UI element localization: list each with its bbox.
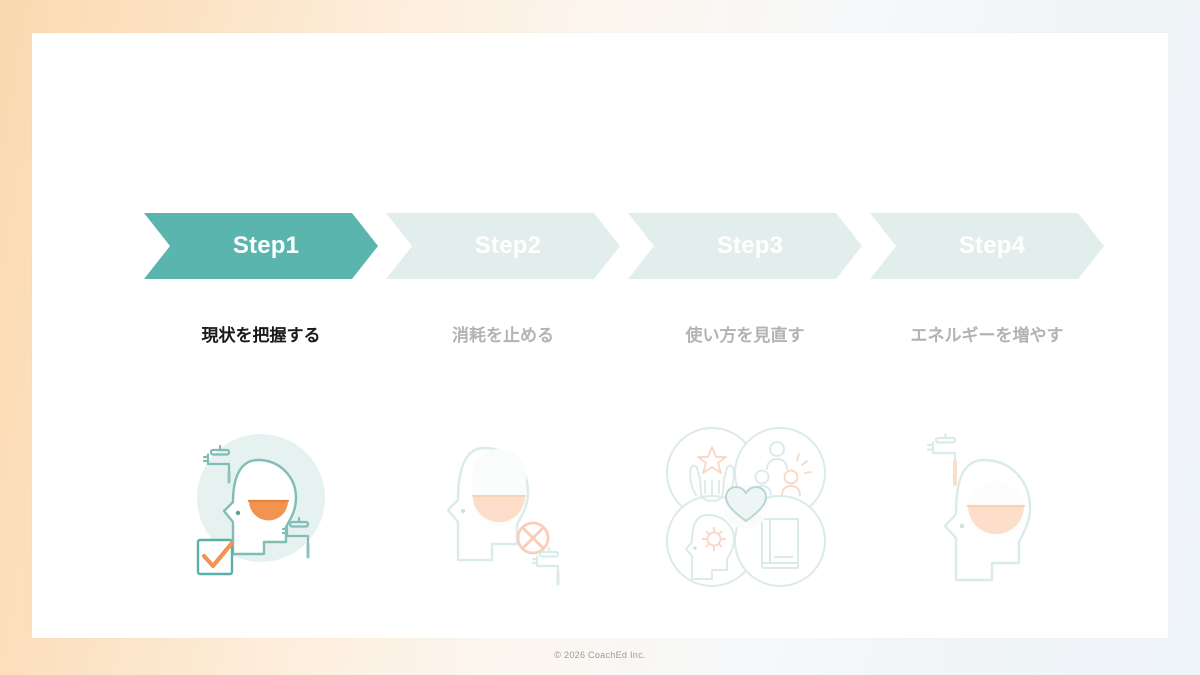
step-illustration-step4 (870, 411, 1104, 601)
step-arrow-step2[interactable]: Step2 (386, 213, 620, 279)
step-caption-step4: エネルギーを増やす (870, 325, 1104, 347)
head-with-blocked-faucet-icon (428, 426, 578, 586)
step-caption-step1: 現状を把握する (144, 325, 378, 347)
step-arrow-label-step4: Step4 (949, 234, 1025, 258)
step-illustration-step1 (144, 411, 378, 601)
step-arrow-step1[interactable]: Step1 (144, 213, 378, 279)
step-caption-step2: 消耗を止める (386, 325, 620, 347)
step-arrow-step4[interactable]: Step4 (870, 213, 1104, 279)
footer-copyright: © 2026 CoachEd Inc. (0, 650, 1200, 660)
head-with-faucets-and-checkbox-icon (186, 426, 336, 586)
slide-canvas: Step1 Step2 Step3 Step4 現状を把握する 消耗を止める 使… (0, 0, 1200, 675)
four-circles-values-heart-icon (660, 421, 830, 591)
step-illustration-row (144, 411, 1104, 601)
step-caption-row: 現状を把握する 消耗を止める 使い方を見直す エネルギーを増やす (144, 325, 1104, 347)
step-arrow-label-step1: Step1 (223, 234, 299, 258)
step-arrow-label-step2: Step2 (465, 234, 541, 258)
step-arrow-step3[interactable]: Step3 (628, 213, 862, 279)
head-refilled-by-faucet-icon (912, 424, 1062, 589)
step-illustration-step2 (386, 411, 620, 601)
step-progress-bar: Step1 Step2 Step3 Step4 (144, 213, 1104, 279)
slide-card: Step1 Step2 Step3 Step4 現状を把握する 消耗を止める 使… (32, 33, 1168, 638)
step-arrow-label-step3: Step3 (707, 234, 783, 258)
step-caption-step3: 使い方を見直す (628, 325, 862, 347)
step-illustration-step3 (628, 411, 862, 601)
